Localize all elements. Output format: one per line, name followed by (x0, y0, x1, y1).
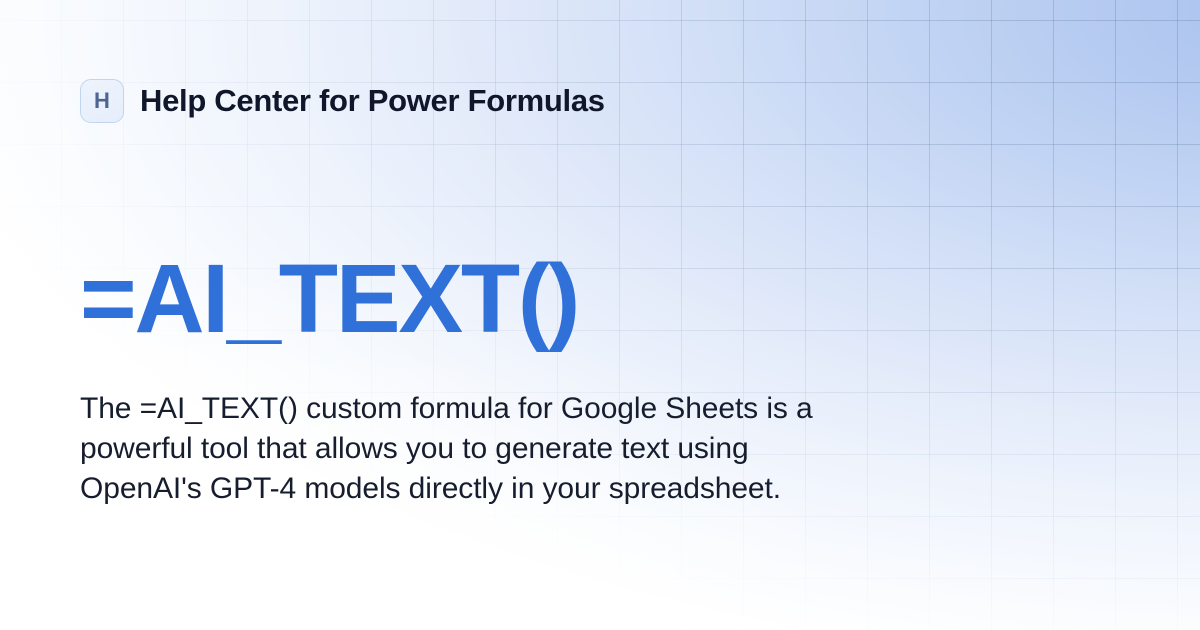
brand-title: Help Center for Power Formulas (140, 83, 605, 119)
page-title: =AI_TEXT() (80, 250, 578, 347)
brand-header: H Help Center for Power Formulas (80, 79, 605, 123)
og-banner-canvas: H Help Center for Power Formulas =AI_TEX… (0, 0, 1200, 630)
banner-content: H Help Center for Power Formulas =AI_TEX… (80, 0, 1120, 630)
brand-logo-badge: H (80, 79, 124, 123)
page-description: The =AI_TEXT() custom formula for Google… (80, 389, 870, 509)
